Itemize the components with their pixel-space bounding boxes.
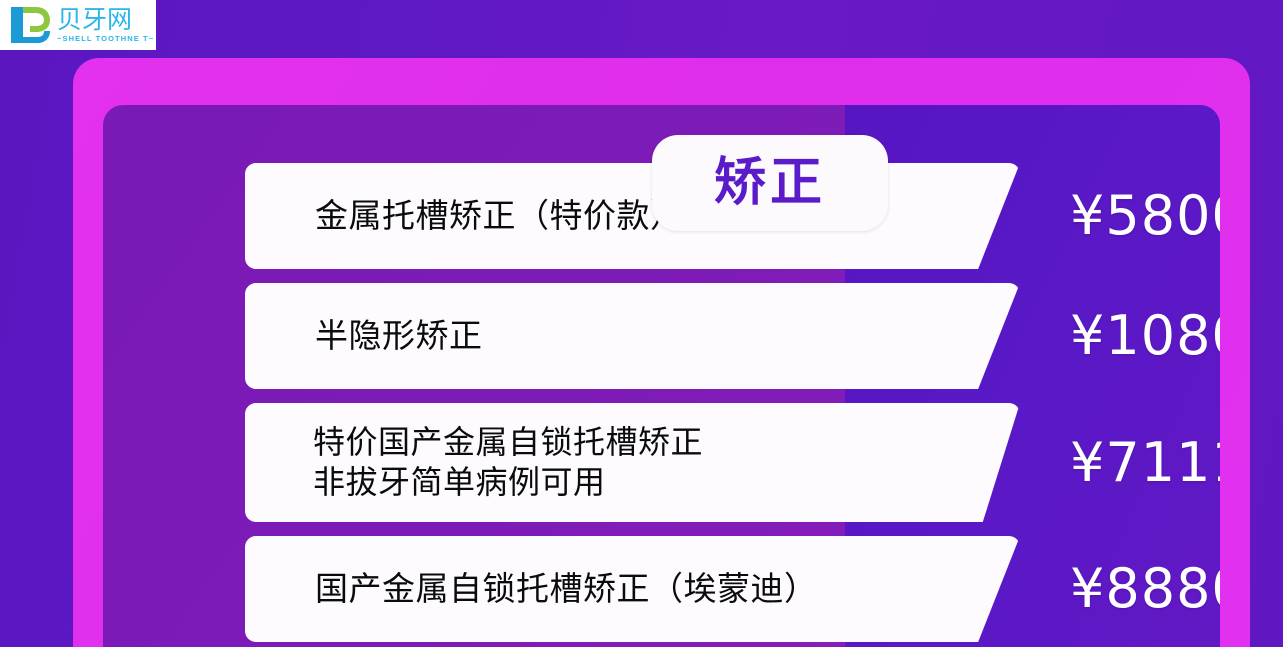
row-price-panel: ¥5800 <box>1020 163 1120 269</box>
price-card: 矫正 金属托槽矫正（特价款） ¥5800 半隐形矫正 ¥10800 特价国产金属… <box>103 105 1220 647</box>
logo-text-block: 贝牙网 ~SHELL TOOTHNE T~ <box>57 7 154 43</box>
page-title: 矫正 <box>714 157 826 209</box>
row-label-panel: 国产金属自锁托槽矫正（埃蒙迪） <box>245 536 1020 642</box>
service-price: ¥7111 <box>1070 436 1220 490</box>
table-row[interactable]: 国产金属自锁托槽矫正（埃蒙迪） ¥8880 <box>245 536 1120 642</box>
table-row[interactable]: 特价国产金属自锁托槽矫正 非拔牙简单病例可用 ¥7111 <box>245 403 1120 522</box>
service-price: ¥8880 <box>1070 562 1220 616</box>
promo-banner: 矫正 金属托槽矫正（特价款） ¥5800 半隐形矫正 ¥10800 特价国产金属… <box>0 0 1283 647</box>
row-label-panel: 特价国产金属自锁托槽矫正 非拔牙简单病例可用 <box>245 403 1020 522</box>
row-price-panel: ¥7111 <box>1020 403 1120 522</box>
site-logo[interactable]: 贝牙网 ~SHELL TOOTHNE T~ <box>0 0 156 50</box>
row-price-panel: ¥8880 <box>1020 536 1120 642</box>
row-label-panel: 金属托槽矫正（特价款） <box>245 163 1020 269</box>
service-price: ¥5800 <box>1070 189 1220 243</box>
service-name: 国产金属自锁托槽矫正（埃蒙迪） <box>245 568 818 610</box>
section-title-pill: 矫正 <box>652 135 888 231</box>
service-price: ¥10800 <box>1070 309 1220 363</box>
row-label-panel: 半隐形矫正 <box>245 283 1020 389</box>
logo-chinese-name: 贝牙网 <box>57 7 154 32</box>
service-name: 特价国产金属自锁托槽矫正 非拔牙简单病例可用 <box>245 423 703 502</box>
service-name: 金属托槽矫正（特价款） <box>245 195 684 237</box>
logo-english-name: ~SHELL TOOTHNE T~ <box>57 35 154 43</box>
logo-b-mark <box>4 3 56 47</box>
row-price-panel: ¥10800 <box>1020 283 1120 389</box>
service-name: 半隐形矫正 <box>245 315 483 357</box>
table-row[interactable]: 半隐形矫正 ¥10800 <box>245 283 1120 389</box>
